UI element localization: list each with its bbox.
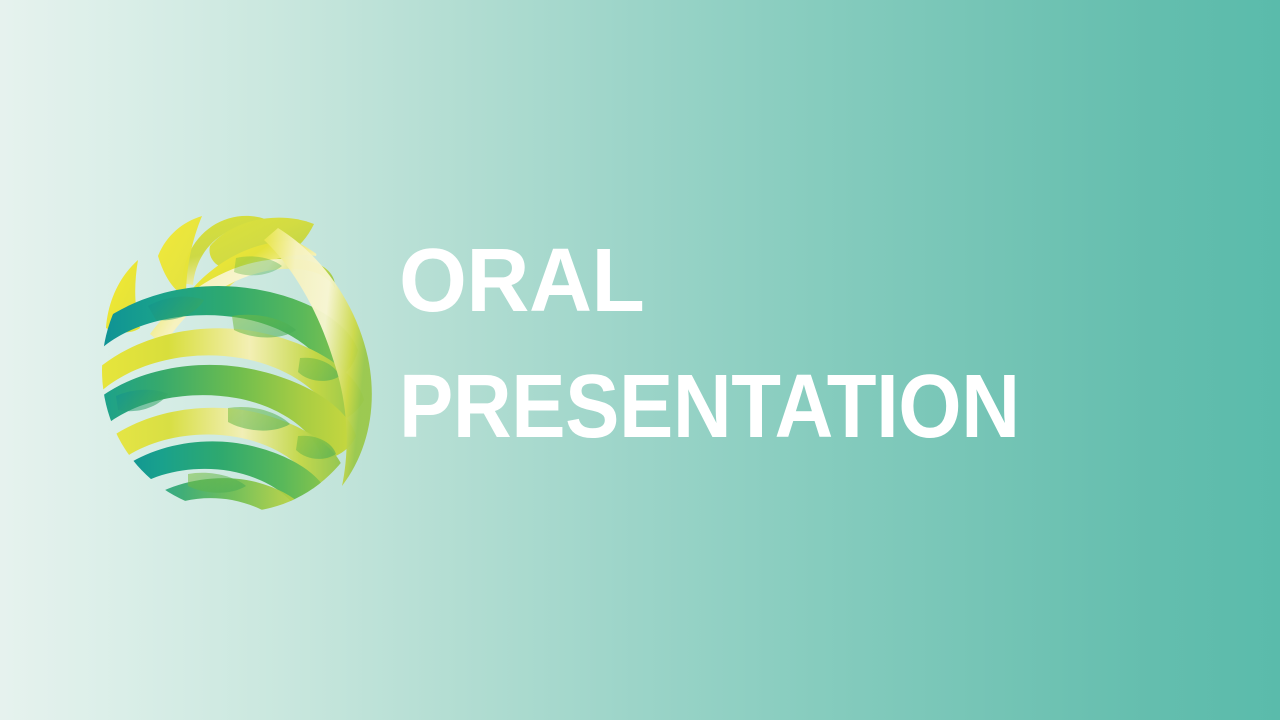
presentation-slide: ORAL PRESENTATION — [0, 0, 1280, 720]
slide-title-block: ORAL PRESENTATION — [399, 236, 1199, 452]
spiral-globe-logo — [92, 198, 384, 522]
page-title-line-1: ORAL — [399, 236, 1175, 326]
page-title-line-2: PRESENTATION — [399, 362, 1123, 452]
